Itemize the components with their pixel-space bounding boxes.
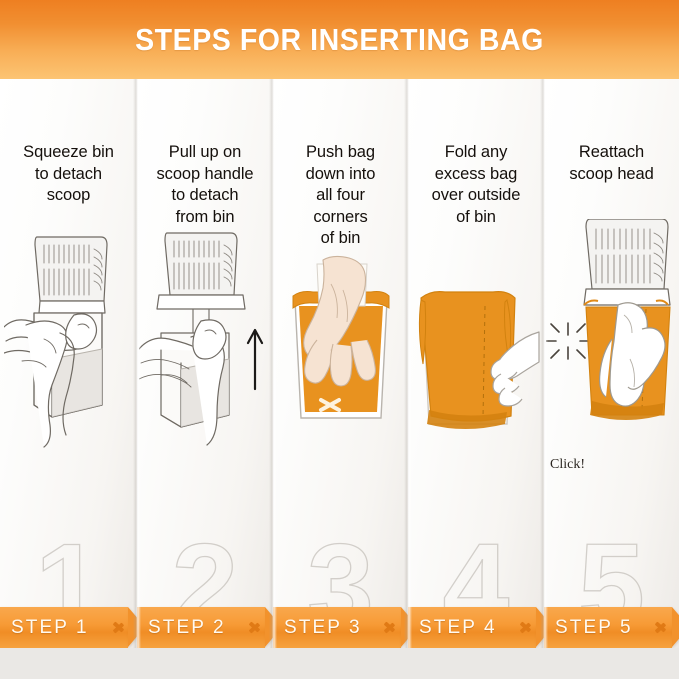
instruction-poster: STEPS FOR INSERTING BAG Squeeze bin to d… [0,0,679,679]
step-illustration-4 [408,274,544,574]
chevron-right-icon [250,616,263,639]
step-bar-4[interactable]: STEP 4 [408,607,544,648]
header-banner: STEPS FOR INSERTING BAG [0,0,679,79]
step-bar-1[interactable]: STEP 1 [0,607,137,648]
step-panel-2[interactable]: Pull up on scoop handle to detach from b… [137,79,273,679]
steps-container: Squeeze bin to detach scoop [0,79,679,679]
step-bar-label-4: STEP 4 [419,607,497,648]
step-bar-label-5: STEP 5 [555,607,633,648]
step-panel-1[interactable]: Squeeze bin to detach scoop [0,79,137,679]
click-annotation: Click! [550,457,585,473]
step-illustration-1 [0,229,137,529]
step-illustration-3 [273,244,408,544]
step-bar-label-1: STEP 1 [11,607,89,648]
step-illustration-2 [137,229,273,529]
chevron-right-icon [385,616,398,639]
sparkle-icon [546,323,592,359]
step-caption-4: Fold any excess bag over outside of bin [408,142,544,228]
step-bar-label-2: STEP 2 [148,607,226,648]
step-caption-3: Push bag down into all four corners of b… [273,142,408,250]
chevron-right-icon [521,616,534,639]
chevron-right-icon [656,616,669,639]
step-bar-2[interactable]: STEP 2 [137,607,273,648]
step-panel-3[interactable]: Push bag down into all four corners of b… [273,79,408,679]
chevron-right-icon [114,616,127,639]
step-panel-4[interactable]: Fold any excess bag over outside of bin [408,79,544,679]
step-bar-label-3: STEP 3 [284,607,362,648]
step-caption-2: Pull up on scoop handle to detach from b… [137,142,273,228]
step-bar-3[interactable]: STEP 3 [273,607,408,648]
step-panel-5[interactable]: Reattach scoop head Click! [544,79,679,679]
step-illustration-5: Click! [544,219,679,519]
page-title: STEPS FOR INSERTING BAG [27,0,652,79]
step-bar-5[interactable]: STEP 5 [544,607,679,648]
bottom-band [0,648,679,679]
step-caption-1: Squeeze bin to detach scoop [0,142,137,207]
step-caption-5: Reattach scoop head [544,142,679,185]
